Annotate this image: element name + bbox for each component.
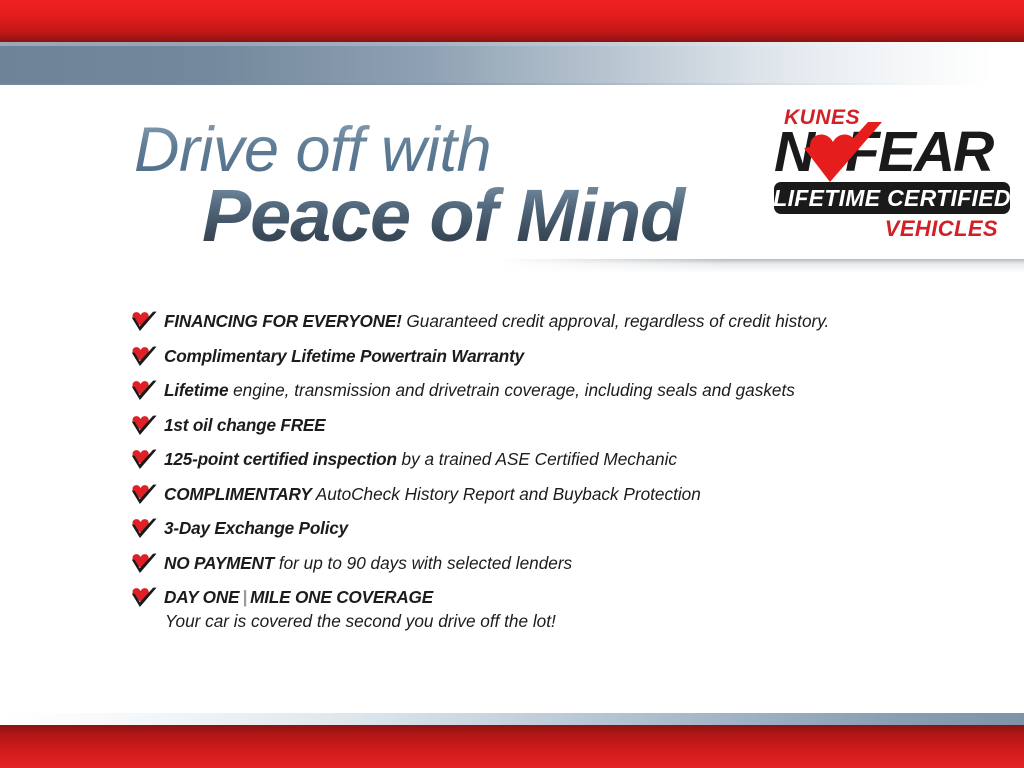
list-item-text: 3-Day Exchange Policy: [164, 518, 348, 538]
logo-no-fear-wordmark: NFEAR: [774, 124, 992, 181]
bottom-blue-band: [0, 713, 1024, 725]
list-item-text: COMPLIMENTARY AutoCheck History Report a…: [164, 484, 701, 504]
list-item-text: DAY ONE|MILE ONE COVERAGE: [164, 587, 433, 607]
heart-check-icon: [131, 448, 157, 470]
list-item: DAY ONE|MILE ONE COVERAGE Your car is co…: [131, 586, 931, 632]
list-item-normal: engine, transmission and drivetrain cove…: [228, 380, 795, 400]
logo-bar-label: LIFETIME CERTIFIED: [773, 185, 1011, 212]
list-item-normal: Guaranteed credit approval, regardless o…: [402, 311, 830, 331]
top-blue-sheen: [0, 42, 1024, 46]
heart-check-icon: [131, 586, 157, 608]
list-item-text: FINANCING FOR EVERYONE! Guaranteed credi…: [164, 311, 829, 331]
list-item: NO PAYMENT for up to 90 days with select…: [131, 552, 931, 576]
promo-poster: Drive off with Peace of Mind KUNES NFEAR…: [0, 0, 1024, 768]
list-item-strong: 1st oil change FREE: [164, 415, 325, 435]
list-item-normal: by a trained ASE Certified Mechanic: [397, 449, 677, 469]
list-item-strong: 125-point certified inspection: [164, 449, 397, 469]
heart-check-icon: [131, 379, 157, 401]
heart-check-icon: [131, 414, 157, 436]
logo-word-fear: FEAR: [845, 120, 992, 184]
headline-line-1: Drive off with: [134, 118, 754, 182]
headline-block: Drive off with Peace of Mind: [134, 118, 754, 254]
list-item: Complimentary Lifetime Powertrain Warran…: [131, 345, 931, 369]
list-item-text: Complimentary Lifetime Powertrain Warran…: [164, 346, 524, 366]
list-item: COMPLIMENTARY AutoCheck History Report a…: [131, 483, 931, 507]
headline-line-2: Peace of Mind: [202, 178, 754, 253]
list-item-strong: Lifetime: [164, 380, 228, 400]
list-item-normal: AutoCheck History Report and Buyback Pro…: [312, 484, 701, 504]
list-item: 3-Day Exchange Policy: [131, 517, 931, 541]
heart-check-icon: [131, 517, 157, 539]
logo-letter-n: N: [774, 120, 813, 184]
kunes-no-fear-logo: KUNES NFEAR LIFETIME CERTIFIED VEHICLES: [770, 104, 1014, 246]
list-item-text: 1st oil change FREE: [164, 415, 325, 435]
list-item: 125-point certified inspection by a trai…: [131, 448, 931, 472]
list-item-text: 125-point certified inspection by a trai…: [164, 449, 677, 469]
header-divider-fade: [500, 259, 730, 273]
list-item-strong: FINANCING FOR EVERYONE!: [164, 311, 402, 331]
list-item-normal: for up to 90 days with selected lenders: [274, 553, 572, 573]
list-item-strong: DAY ONE: [164, 587, 239, 607]
heart-check-icon: [131, 345, 157, 367]
benefits-list: FINANCING FOR EVERYONE! Guaranteed credi…: [131, 310, 931, 643]
heart-check-icon: [131, 483, 157, 505]
list-item-strong: 3-Day Exchange Policy: [164, 518, 348, 538]
list-item: 1st oil change FREE: [131, 414, 931, 438]
top-red-band: [0, 0, 1024, 42]
list-item-subtext: Your car is covered the second you drive…: [165, 610, 931, 632]
list-item-separator: |: [239, 587, 250, 607]
heart-check-icon: [131, 310, 157, 332]
list-item-strong-2: MILE ONE COVERAGE: [250, 587, 433, 607]
list-item-text: Lifetime engine, transmission and drivet…: [164, 380, 795, 400]
list-item-strong: NO PAYMENT: [164, 553, 274, 573]
list-item-strong: COMPLIMENTARY: [164, 484, 312, 504]
list-item-strong: Complimentary Lifetime Powertrain Warran…: [164, 346, 524, 366]
logo-vehicles-label: VEHICLES: [770, 216, 998, 242]
top-blue-band: [0, 42, 1024, 85]
bottom-red-band: [0, 725, 1024, 768]
list-item: Lifetime engine, transmission and drivet…: [131, 379, 931, 403]
logo-lifetime-certified-bar: LIFETIME CERTIFIED: [774, 182, 1010, 214]
list-item: FINANCING FOR EVERYONE! Guaranteed credi…: [131, 310, 931, 334]
heart-check-icon: [131, 552, 157, 574]
top-blue-edge: [0, 83, 1024, 85]
list-item-text: NO PAYMENT for up to 90 days with select…: [164, 553, 572, 573]
